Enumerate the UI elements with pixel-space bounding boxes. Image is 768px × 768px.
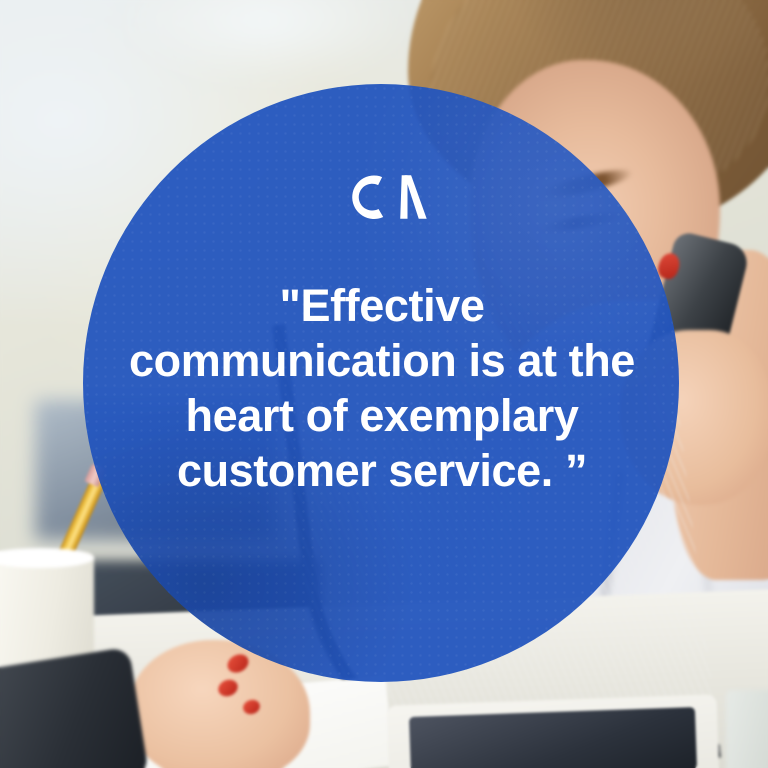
quote-text: "Effective communication is at the heart… bbox=[112, 278, 652, 498]
ceiling-light-panel bbox=[120, 0, 410, 80]
drinking-glass bbox=[726, 690, 768, 768]
tablet-screen bbox=[409, 707, 697, 768]
quote-card-canvas: "Effective communication is at the heart… bbox=[0, 0, 768, 768]
ca-monogram-logo-icon bbox=[348, 168, 430, 226]
